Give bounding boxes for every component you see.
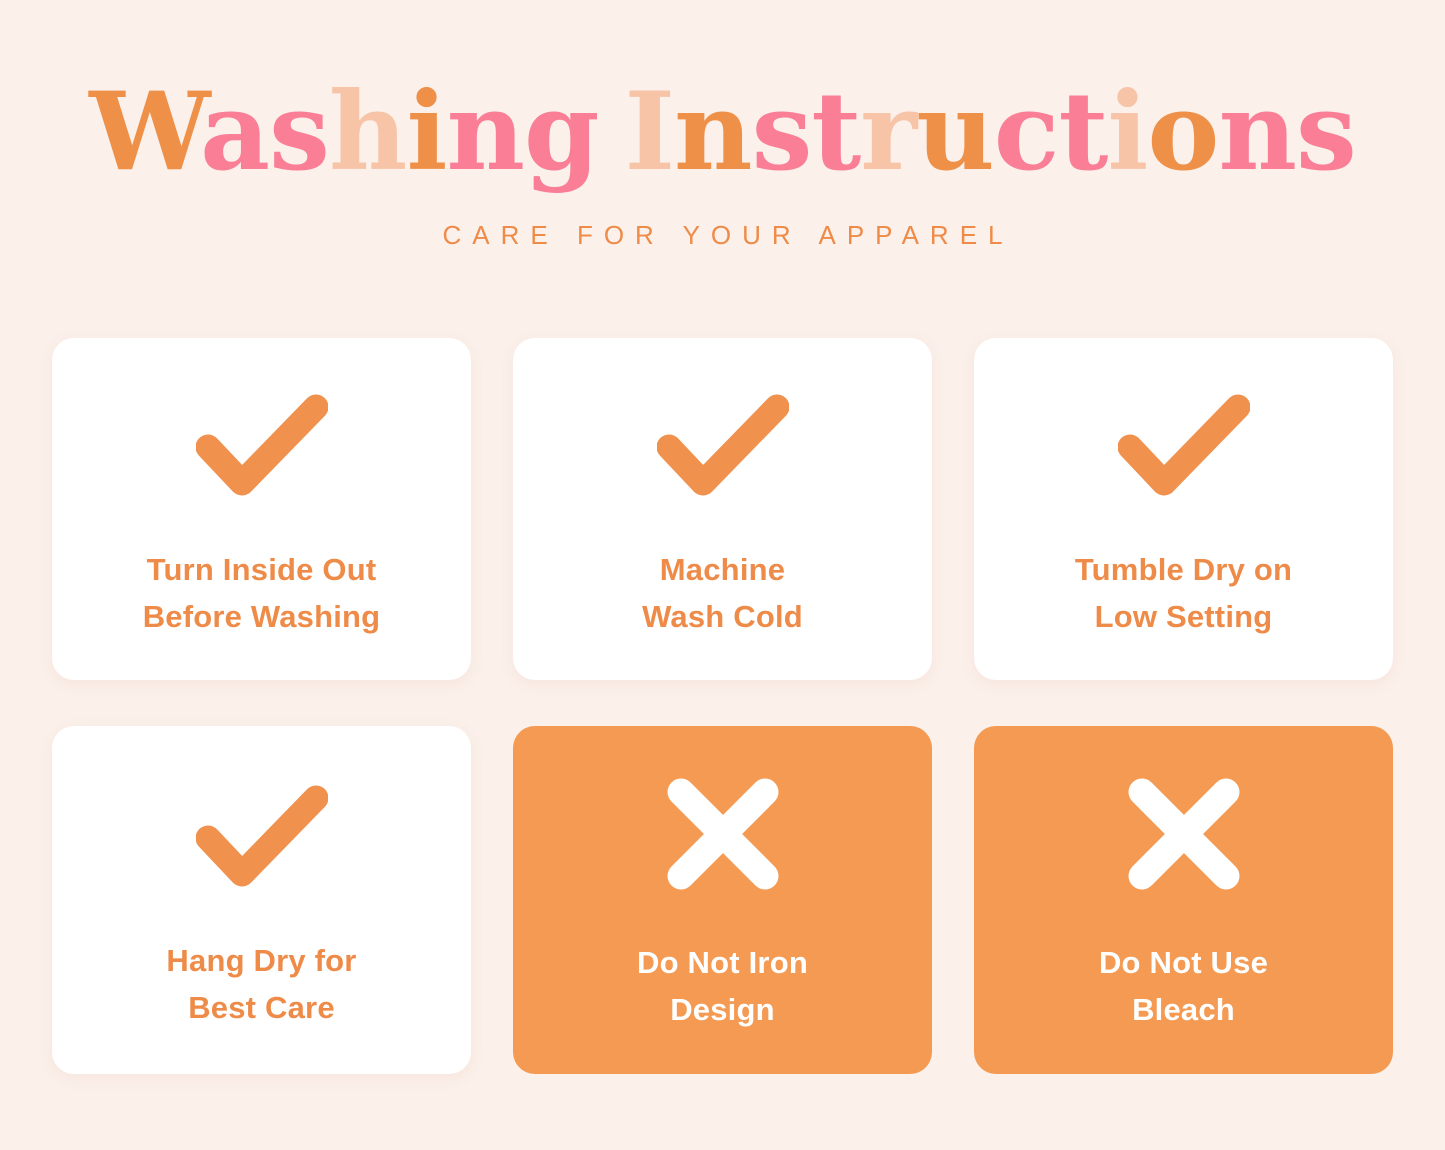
care-card-label-line2: Wash Cold — [642, 593, 803, 640]
title-letter-11: t — [811, 69, 860, 195]
care-card-label: Tumble Dry onLow Setting — [1075, 546, 1292, 640]
care-card-label: Turn Inside OutBefore Washing — [143, 546, 381, 640]
care-card-label-line1: Turn Inside Out — [143, 546, 381, 593]
title-letter-13: u — [916, 69, 994, 195]
title-letter-9: n — [674, 69, 752, 195]
care-card-machine-wash-cold: MachineWash Cold — [513, 338, 932, 680]
care-card-label-line2: Low Setting — [1075, 593, 1292, 640]
care-card-label-line2: Best Care — [166, 984, 356, 1031]
check-icon — [657, 370, 789, 520]
care-card-label-line1: Do Not Use — [1099, 939, 1268, 986]
title-letter-5: n — [446, 69, 524, 195]
poster-header: WashingInstructions CARE FOR YOUR APPARE… — [0, 78, 1445, 251]
care-card-label-line1: Machine — [642, 546, 803, 593]
title-letter-15: t — [1058, 69, 1107, 195]
title-letter-2: s — [269, 69, 329, 195]
title-letter-1: a — [200, 69, 269, 195]
title-letter-8: I — [625, 69, 675, 195]
check-icon — [1118, 370, 1250, 520]
care-card-label-line1: Do Not Iron — [637, 939, 808, 986]
title-letter-12: r — [860, 69, 916, 195]
title-letter-17: o — [1147, 69, 1218, 195]
care-card-label: Hang Dry forBest Care — [166, 937, 356, 1031]
page-subtitle: CARE FOR YOUR APPAREL — [0, 220, 1445, 251]
check-icon — [196, 761, 328, 911]
title-letter-19: s — [1296, 69, 1356, 195]
title-letter-18: n — [1218, 69, 1296, 195]
care-card-label-line1: Tumble Dry on — [1075, 546, 1292, 593]
care-card-turn-inside-out: Turn Inside OutBefore Washing — [52, 338, 471, 680]
title-letter-16: i — [1107, 69, 1147, 195]
care-card-label: Do Not IronDesign — [637, 939, 808, 1033]
care-card-label-line2: Bleach — [1099, 986, 1268, 1033]
care-card-label-line1: Hang Dry for — [166, 937, 356, 984]
care-card-label-line2: Design — [637, 986, 808, 1033]
check-icon — [196, 370, 328, 520]
care-card-label-line2: Before Washing — [143, 593, 381, 640]
title-letter-10: s — [752, 69, 812, 195]
page-title: WashingInstructions — [0, 78, 1445, 186]
title-letter-6: g — [524, 69, 599, 195]
title-letter-0: W — [89, 69, 200, 195]
cross-icon — [1126, 759, 1242, 909]
cross-icon — [665, 759, 781, 909]
title-letter-14: c — [994, 69, 1059, 195]
care-card-hang-dry: Hang Dry forBest Care — [52, 726, 471, 1074]
care-instruction-grid: Turn Inside OutBefore WashingMachineWash… — [52, 338, 1393, 1074]
care-card-do-not-iron: Do Not IronDesign — [513, 726, 932, 1074]
title-letter-3: h — [329, 69, 407, 195]
care-card-tumble-dry-low: Tumble Dry onLow Setting — [974, 338, 1393, 680]
title-letter-4: i — [406, 69, 446, 195]
washing-instructions-poster: WashingInstructions CARE FOR YOUR APPARE… — [0, 0, 1445, 1150]
care-card-label: MachineWash Cold — [642, 546, 803, 640]
care-card-do-not-bleach: Do Not UseBleach — [974, 726, 1393, 1074]
care-card-label: Do Not UseBleach — [1099, 939, 1268, 1033]
